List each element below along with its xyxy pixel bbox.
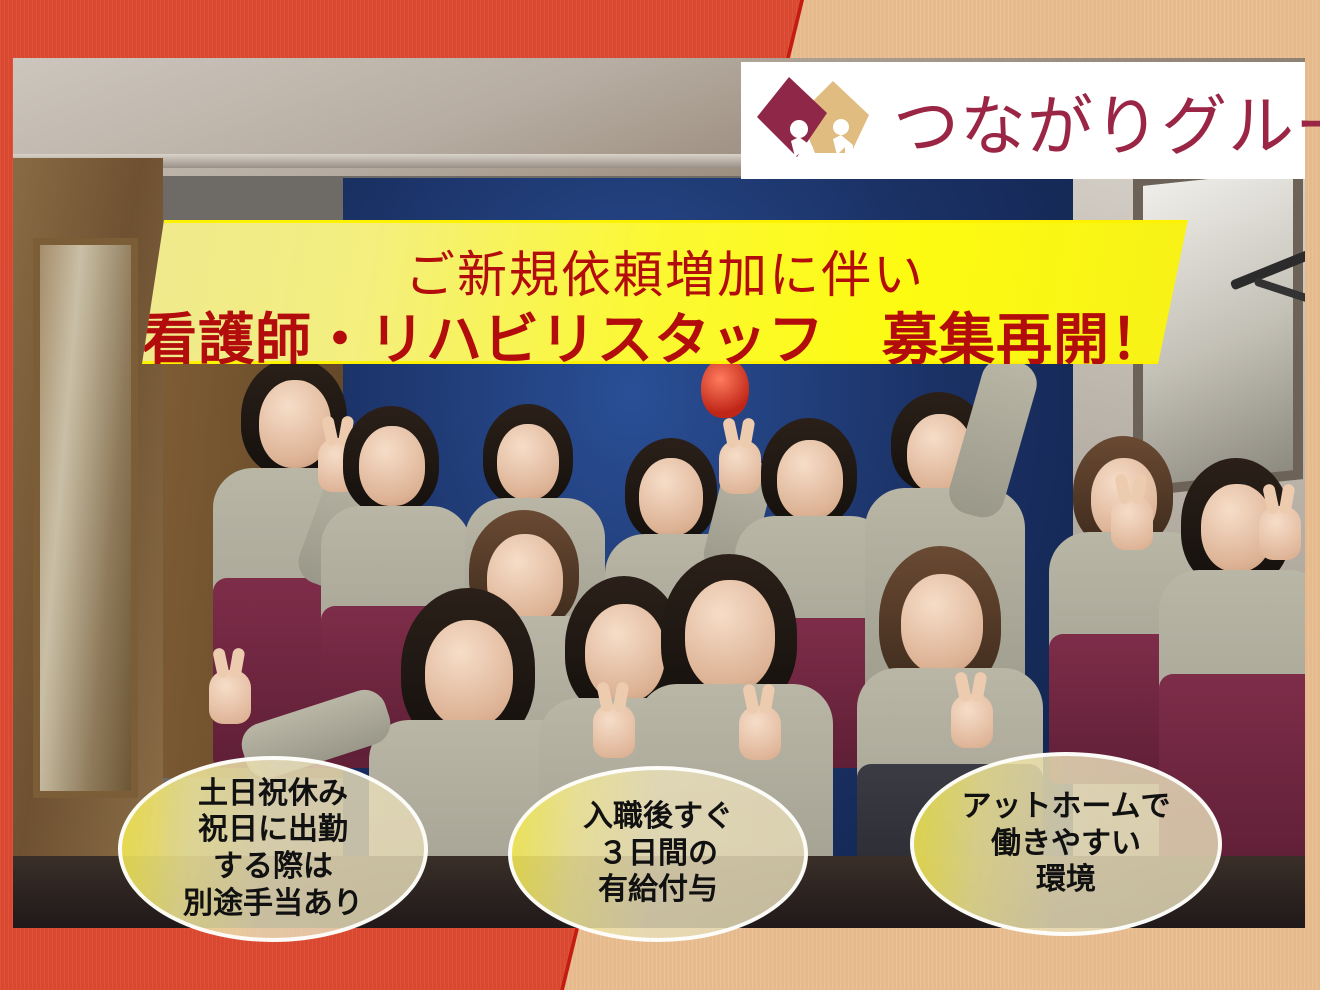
badge-1-line-3: する際は bbox=[213, 849, 333, 886]
badge-3-line-2: 働きやすい bbox=[991, 826, 1141, 863]
recruitment-poster: つながりグループ ご新規依頼増加に伴い 看護師・リハビリスタッフ 募集再開！！ … bbox=[0, 0, 1320, 990]
badge-3-line-3: 環境 bbox=[1036, 862, 1096, 899]
badge-1-line-2: 祝日に出勤 bbox=[198, 812, 348, 849]
badge-1-line-1: 土日祝休み bbox=[198, 776, 348, 813]
badge-2-line-3: 有給付与 bbox=[598, 872, 718, 909]
photo-red-lamp bbox=[701, 358, 749, 418]
benefit-badge-paid-leave: 入職後すぐ ３日間の 有給付与 bbox=[508, 766, 808, 942]
badge-2-line-2: ３日間の bbox=[598, 836, 718, 873]
headline-line-2: 看護師・リハビリスタッフ 募集再開！！ bbox=[141, 295, 1189, 376]
badge-1-line-4: 別途手当あり bbox=[183, 886, 363, 923]
badge-2-line-1: 入職後すぐ bbox=[583, 799, 733, 836]
benefit-badge-holidays: 土日祝休み 祝日に出勤 する際は 別途手当あり bbox=[118, 756, 428, 942]
brand-name: つながりグループ bbox=[893, 73, 1320, 169]
photo-door bbox=[33, 238, 138, 798]
badge-3-line-1: アットホームで bbox=[961, 789, 1170, 826]
benefit-badge-workplace: アットホームで 働きやすい 環境 bbox=[910, 752, 1222, 936]
headline-banner: ご新規依頼増加に伴い 看護師・リハビリスタッフ 募集再開！！ bbox=[138, 220, 1192, 364]
tsunagari-house-diamond-icon bbox=[755, 75, 871, 167]
brand-logo-box: つながりグループ bbox=[741, 62, 1305, 179]
